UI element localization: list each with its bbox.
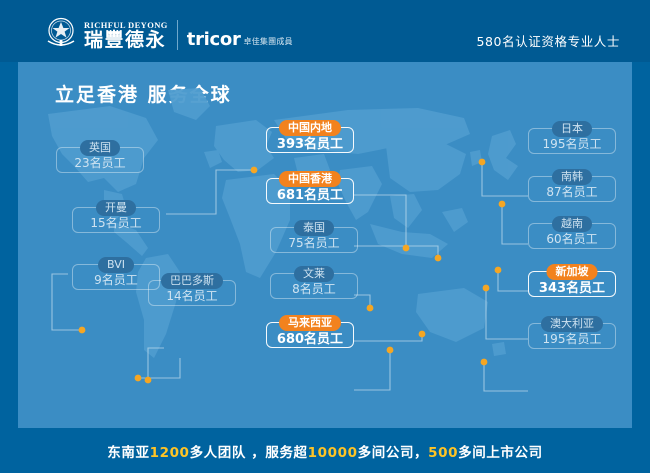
location-name-vietnam: 越南: [552, 216, 592, 232]
location-name-mainland: 中国内地: [279, 120, 341, 136]
page-footer: 东南亚1200多人团队 ，服务超10000多间公司，500多间上市公司: [0, 428, 650, 473]
logo-divider: [177, 20, 178, 50]
location-name-hongkong: 中国香港: [279, 171, 341, 187]
footer-seg-4: 多间上市公司: [458, 445, 543, 461]
location-name-uk: 英国: [80, 140, 120, 156]
brand-logo[interactable]: RICHFUL DEYONG 瑞豐德永 tricor 卓佳集團成員: [44, 16, 293, 51]
footer-number-listed: 500: [428, 445, 458, 461]
location-name-thailand: 泰国: [294, 220, 334, 236]
partner-logo-subtitle: 卓佳集團成員: [244, 36, 293, 47]
footer-seg-3: 多间公司，: [358, 445, 429, 461]
location-name-bvi: BVI: [98, 257, 134, 273]
partner-logo-name: tricor: [187, 30, 241, 49]
footer-seg-1: 东南亚: [107, 445, 149, 461]
location-name-australia: 澳大利亚: [541, 316, 603, 332]
infographic-root: RICHFUL DEYONG 瑞豐德永 tricor 卓佳集團成員 580名认证…: [0, 0, 650, 473]
location-name-malaysia: 马来西亚: [279, 315, 341, 331]
company-crest-icon: [44, 16, 78, 50]
page-header: RICHFUL DEYONG 瑞豐德永 tricor 卓佳集團成員 580名认证…: [0, 0, 650, 62]
map-panel: 立足香港 服务全球: [18, 62, 632, 428]
location-name-southkorea: 南韩: [552, 169, 592, 185]
location-name-barbados: 巴巴多斯: [161, 273, 223, 289]
location-name-cayman: 开曼: [96, 200, 136, 216]
logo-chinese-name: 瑞豐德永: [84, 30, 168, 51]
footer-seg-2: 多人团队 ，服务超: [190, 445, 308, 461]
location-name-singapore: 新加坡: [547, 264, 598, 280]
footer-number-companies: 10000: [308, 445, 358, 461]
footer-summary-text: 东南亚1200多人团队 ，服务超10000多间公司，500多间上市公司: [107, 441, 542, 461]
location-name-brunei: 文莱: [294, 266, 334, 282]
location-name-japan: 日本: [552, 121, 592, 137]
footer-number-team: 1200: [150, 445, 190, 461]
header-stat-text: 580名认证资格专业人士: [476, 31, 620, 50]
